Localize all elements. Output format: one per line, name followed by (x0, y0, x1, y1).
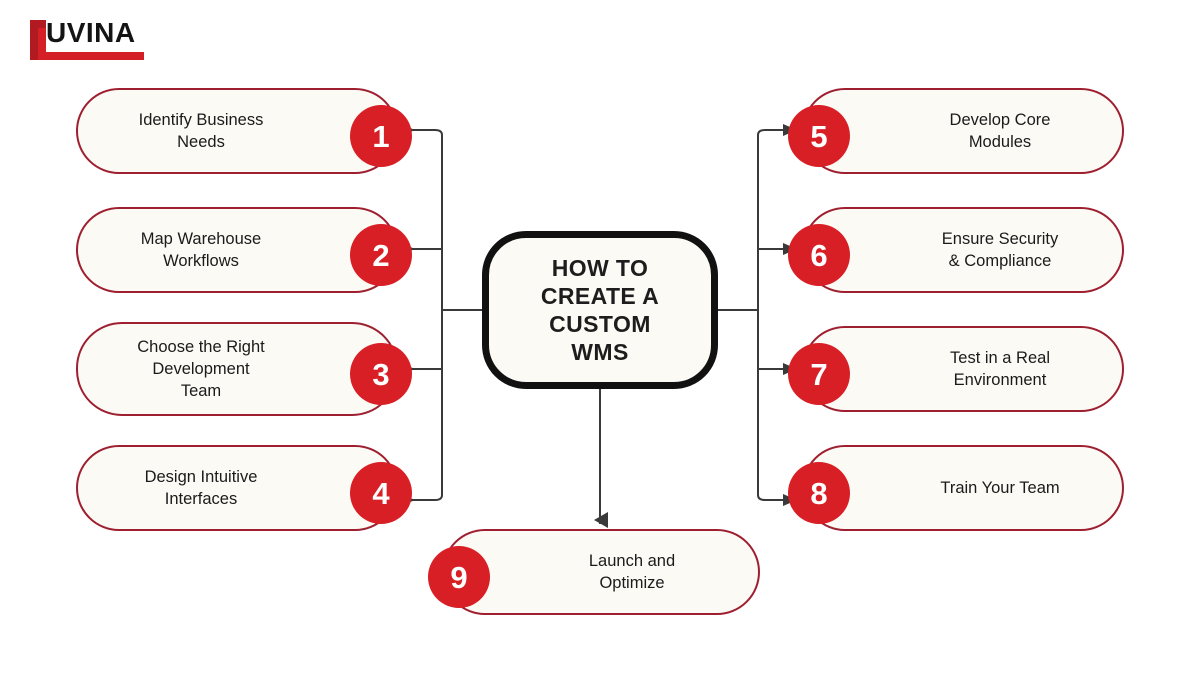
logo-wordmark: UVINA (46, 18, 136, 48)
step-label-9: Launch and Optimize (536, 550, 728, 594)
step-number-1: 1 (350, 105, 412, 167)
step-number-9: 9 (428, 546, 490, 608)
center-node-title: HOW TO CREATE A CUSTOM WMS (541, 254, 659, 366)
step-label-8: Train Your Team (896, 477, 1104, 499)
step-label-4: Design Intuitive Interfaces (92, 466, 310, 510)
step-number-5: 5 (788, 105, 850, 167)
step-box-1[interactable]: Identify Business Needs 1 (76, 88, 398, 174)
step-label-6: Ensure Security & Compliance (896, 228, 1104, 272)
step-number-2: 2 (350, 224, 412, 286)
step-number-6: 6 (788, 224, 850, 286)
step-number-3: 3 (350, 343, 412, 405)
step-box-8[interactable]: Train Your Team 8 (802, 445, 1124, 531)
step-label-5: Develop Core Modules (896, 109, 1104, 153)
step-box-2[interactable]: Map Warehouse Workflows 2 (76, 207, 398, 293)
step-box-4[interactable]: Design Intuitive Interfaces 4 (76, 445, 398, 531)
step-box-3[interactable]: Choose the Right Development Team 3 (76, 322, 398, 416)
step-box-6[interactable]: Ensure Security & Compliance 6 (802, 207, 1124, 293)
step-number-4: 4 (350, 462, 412, 524)
center-node: HOW TO CREATE A CUSTOM WMS (482, 231, 718, 389)
luvina-logo: UVINA (16, 14, 156, 62)
step-label-1: Identify Business Needs (92, 109, 310, 153)
step-label-2: Map Warehouse Workflows (92, 228, 310, 272)
step-box-9[interactable]: Launch and Optimize 9 (442, 529, 760, 615)
step-label-3: Choose the Right Development Team (92, 336, 310, 402)
step-box-7[interactable]: Test in a Real Environment 7 (802, 326, 1124, 412)
step-box-5[interactable]: Develop Core Modules 5 (802, 88, 1124, 174)
step-number-7: 7 (788, 343, 850, 405)
step-number-8: 8 (788, 462, 850, 524)
step-label-7: Test in a Real Environment (896, 347, 1104, 391)
